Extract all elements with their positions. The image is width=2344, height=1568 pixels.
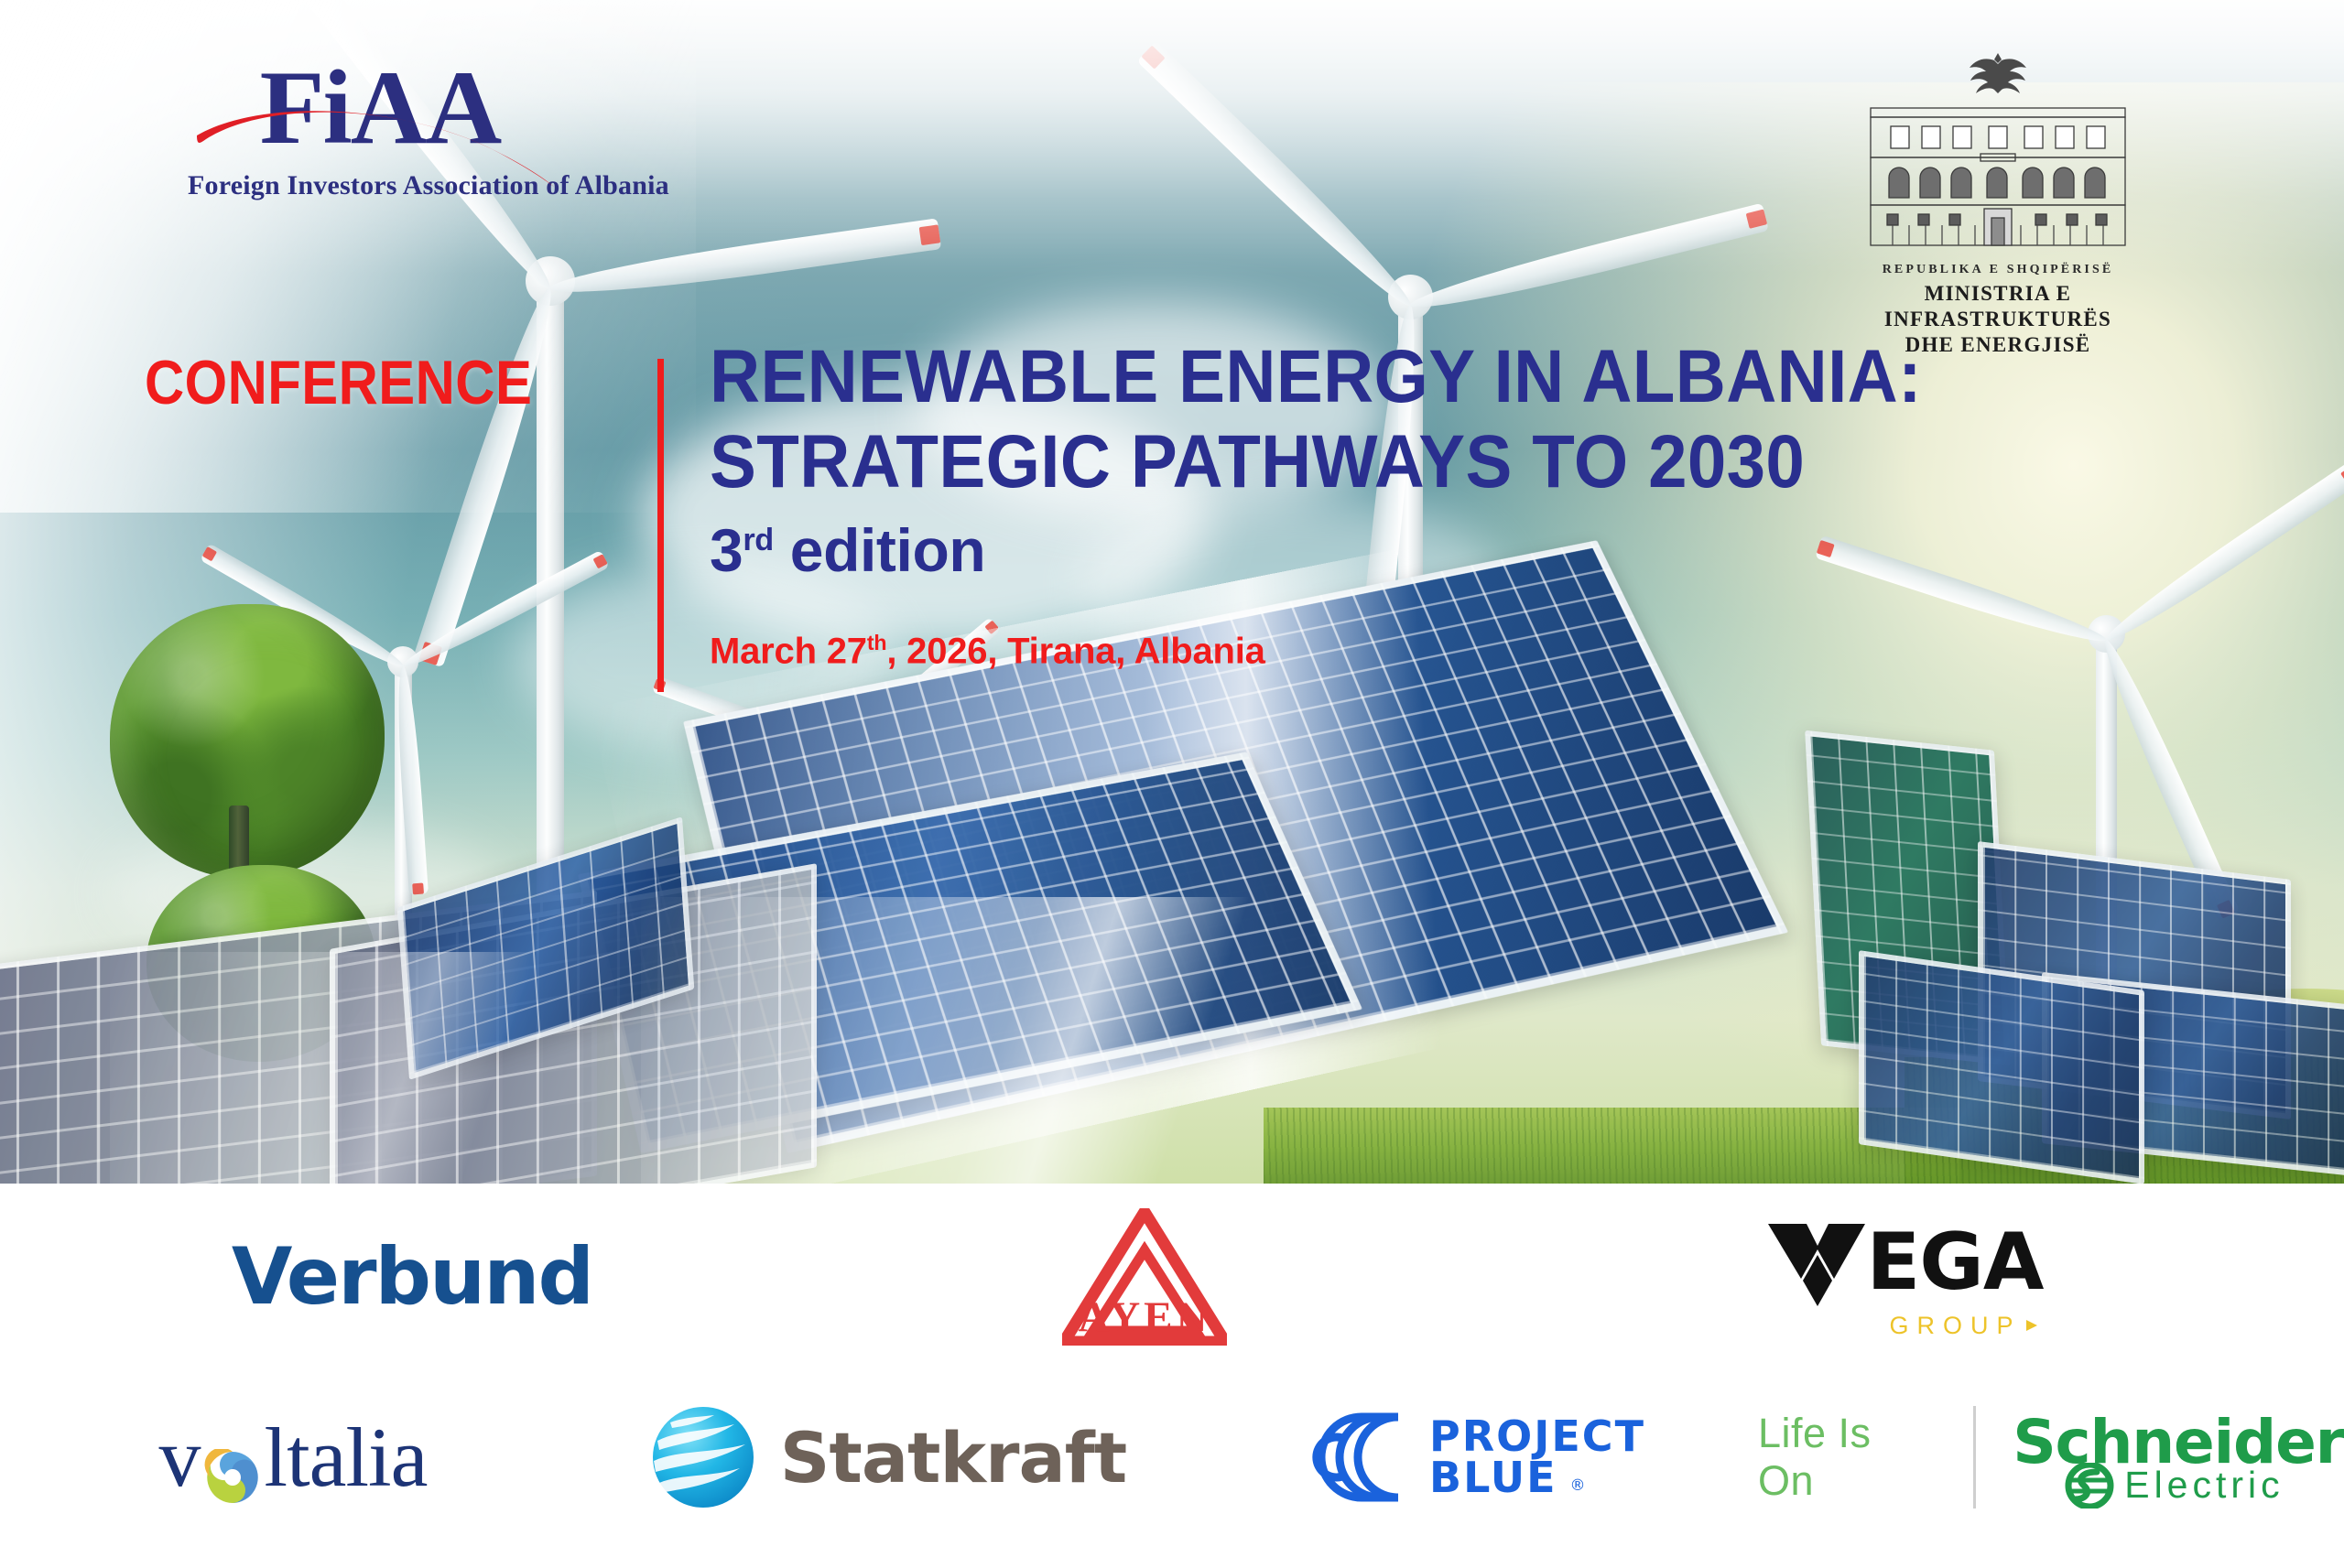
sponsor-row-2: v ltalia: [0, 1384, 2344, 1530]
solar-panel: [1859, 950, 2144, 1184]
date-suffix: , 2026, Tirana, Albania: [886, 631, 1264, 671]
divider: [1973, 1406, 1976, 1509]
title-divider: [657, 359, 664, 692]
sponsor-schneider-electric[interactable]: Life Is On Schneider Electric: [1758, 1406, 2344, 1509]
edition-word: edition: [790, 516, 986, 584]
date-prefix: March 27: [710, 631, 867, 671]
albanian-eagle-icon: [1851, 48, 2144, 99]
voltalia-post: ltalia: [265, 1409, 428, 1506]
ayen-label: AYEN: [1062, 1292, 1227, 1342]
project-blue-c-icon: [1303, 1408, 1411, 1507]
voltalia-pinwheel-icon: [204, 1429, 261, 1486]
voltalia-pre: v: [159, 1409, 201, 1506]
schneider-s-icon: [2064, 1463, 2115, 1509]
statkraft-globe-icon: [650, 1404, 756, 1510]
vega-wordmark: EGA: [1867, 1217, 2044, 1308]
registered-mark: ®: [1570, 1478, 1588, 1498]
vega-group-label: GROUP: [1889, 1312, 2021, 1340]
schneider-logo: Life Is On Schneider Electric: [1758, 1406, 2344, 1509]
ministry-logo: REPUBLIKA E SHQIPËRISË MINISTRIA E INFRA…: [1851, 48, 2144, 358]
date-ordinal: th: [867, 631, 887, 654]
edition-number: 3: [710, 516, 743, 584]
sponsor-vega[interactable]: EGA GROUP: [1465, 1215, 2344, 1340]
statkraft-wordmark: Statkraft: [780, 1417, 1126, 1498]
title-line-2: STRATEGIC PATHWAYS TO 2030: [710, 422, 2089, 503]
vega-arrow-icon: [2024, 1318, 2039, 1333]
grass: [1264, 1108, 1959, 1184]
conference-poster: FiAA Foreign Investors Association of Al…: [0, 0, 2344, 1568]
fiaa-logo: FiAA Foreign Investors Association of Al…: [188, 55, 572, 201]
swoosh-icon: [180, 79, 583, 187]
voltalia-logo: v ltalia: [159, 1409, 428, 1506]
fiaa-wordmark: FiAA: [188, 55, 572, 163]
project-blue-logo: PROJECT BLUE ®: [1303, 1408, 1645, 1507]
date-location: March 27th, 2026, Tirana, Albania: [710, 631, 2193, 672]
schneider-electric-label: Electric: [2124, 1464, 2284, 1507]
project-blue-line1: PROJECT: [1429, 1416, 1645, 1457]
edition-ordinal: rd: [743, 523, 774, 557]
verbund-wordmark: Verbund: [232, 1231, 592, 1323]
sponsor-row-1: Verbund AYEN EGA: [0, 1208, 2344, 1346]
life-is-on-text: Life Is On: [1758, 1410, 1937, 1505]
sponsor-statkraft[interactable]: Statkraft: [586, 1404, 1190, 1510]
life-is-on-tagline: Life Is On: [1758, 1410, 1937, 1505]
ministry-building-icon: [1851, 103, 2144, 254]
sponsor-ayen[interactable]: AYEN: [824, 1208, 1465, 1346]
sponsor-verbund[interactable]: Verbund: [0, 1231, 824, 1323]
project-blue-line2: BLUE: [1429, 1457, 1557, 1498]
ministry-country-line: REPUBLIKA E SHQIPËRISË: [1851, 263, 2144, 277]
ayen-logo: AYEN: [1062, 1208, 1227, 1346]
sponsor-voltalia[interactable]: v ltalia: [0, 1409, 586, 1506]
sponsor-project-blue[interactable]: PROJECT BLUE ®: [1190, 1408, 1758, 1507]
vega-v-icon: [1766, 1215, 1867, 1310]
vega-logo: EGA GROUP: [1766, 1215, 2044, 1340]
edition-label: 3rd edition: [710, 515, 2193, 585]
statkraft-logo: Statkraft: [650, 1404, 1126, 1510]
title-line-1: RENEWABLE ENERGY IN ALBANIA:: [710, 337, 2089, 418]
ministry-name-line1: MINISTRIA E INFRASTRUKTURËS: [1851, 281, 2144, 332]
conference-kicker: CONFERENCE: [145, 347, 532, 418]
title-block: RENEWABLE ENERGY IN ALBANIA: STRATEGIC P…: [710, 337, 2193, 672]
